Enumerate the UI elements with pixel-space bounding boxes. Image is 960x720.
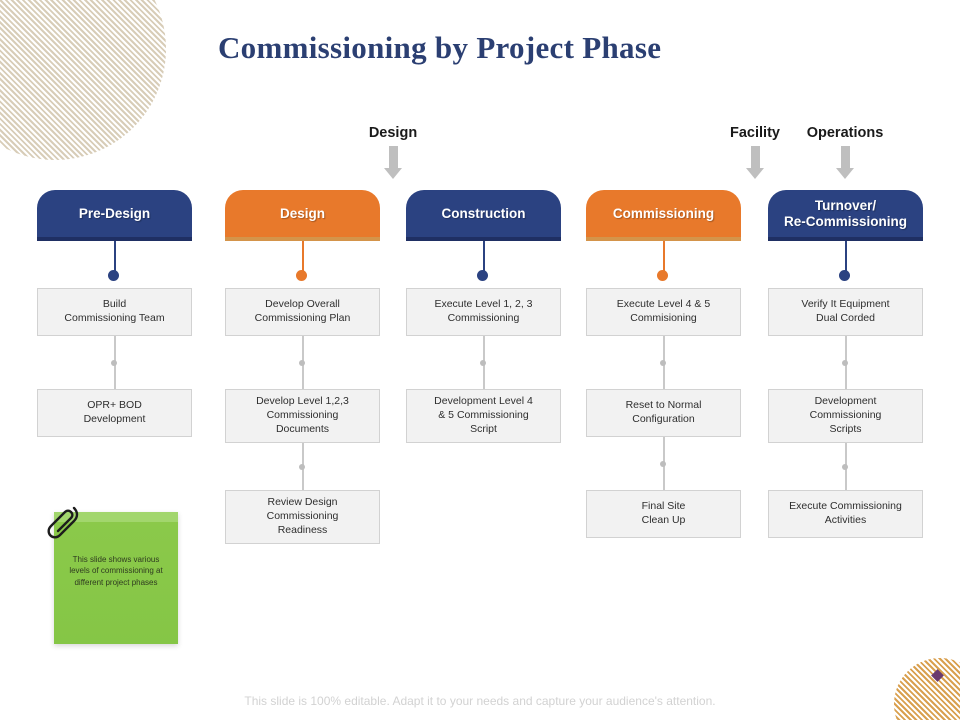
step-box-label: Execute Level 1, 2, 3Commissioning (434, 298, 532, 326)
column-header-line: Pre-Design (79, 206, 150, 222)
sticky-note-line: This slide shows various (60, 554, 172, 565)
step-box[interactable]: Execute CommissioningActivities (768, 490, 923, 538)
phase-arrow-down-icon (384, 146, 402, 179)
step-box-label: BuildCommissioning Team (64, 298, 164, 326)
step-box-line: Dual Corded (801, 312, 889, 326)
step-box-label: Execute Level 4 & 5Commisioning (617, 298, 710, 326)
step-box[interactable]: OPR+ BODDevelopment (37, 389, 192, 437)
decorative-circle-bottom-right (894, 658, 960, 720)
step-box[interactable]: Execute Level 4 & 5Commisioning (586, 288, 741, 336)
step-box-line: Verify It Equipment (801, 298, 889, 312)
column-connector-dot (657, 270, 668, 281)
step-box[interactable]: Develop OverallCommissioning Plan (225, 288, 380, 336)
decorative-circle-top-left (0, 0, 166, 160)
step-box-line: Development (810, 395, 882, 409)
step-box-line: Commissioning Team (64, 312, 164, 326)
phase-arrow-down-icon (746, 146, 764, 179)
step-box[interactable]: Reset to NormalConfiguration (586, 389, 741, 437)
step-box[interactable]: Final SiteClean Up (586, 490, 741, 538)
arrow-shaft (751, 146, 760, 168)
step-connector-dot (842, 464, 848, 470)
column-header-label: Design (280, 206, 325, 222)
step-connector-dot (660, 360, 666, 366)
sticky-note-line: levels of commissioning at (60, 565, 172, 576)
step-box[interactable]: BuildCommissioning Team (37, 288, 192, 336)
step-box-line: Commissioning (267, 510, 339, 524)
column-header-button[interactable]: Construction (406, 190, 561, 237)
step-connector-dot (299, 360, 305, 366)
arrow-shaft (389, 146, 398, 168)
step-box[interactable]: DevelopmentCommissioningScripts (768, 389, 923, 443)
step-box-line: Development (84, 413, 146, 427)
step-box-line: Development Level 4 (434, 395, 533, 409)
column-header-label: Pre-Design (79, 206, 150, 222)
column-header-label: Construction (442, 206, 526, 222)
phase-arrow-down-icon (836, 146, 854, 179)
step-box-label: Develop OverallCommissioning Plan (255, 298, 351, 326)
step-box-line: Commissioning (256, 409, 349, 423)
step-box[interactable]: Verify It EquipmentDual Corded (768, 288, 923, 336)
phase-label-design: Design (369, 125, 417, 141)
step-box-line: Documents (256, 423, 349, 437)
column-connector-line (302, 241, 304, 273)
step-box[interactable]: Develop Level 1,2,3CommissioningDocument… (225, 389, 380, 443)
step-box-line: & 5 Commissioning (434, 409, 533, 423)
column-header-button[interactable]: Pre-Design (37, 190, 192, 237)
step-box-line: Build (64, 298, 164, 312)
step-box-line: Script (434, 423, 533, 437)
step-box-line: Execute Level 1, 2, 3 (434, 298, 532, 312)
column-connector-dot (839, 270, 850, 281)
phase-column-5: Turnover/Re-CommissioningVerify It Equip… (768, 190, 923, 241)
phase-column-4: CommissioningExecute Level 4 & 5Commisio… (586, 190, 741, 241)
step-box-line: Final Site (642, 500, 686, 514)
column-header-line: Re-Commissioning (784, 214, 907, 230)
step-box-line: Clean Up (642, 514, 686, 528)
column-connector-line (663, 241, 665, 273)
step-box-line: Develop Overall (255, 298, 351, 312)
phase-column-3: ConstructionExecute Level 1, 2, 3Commiss… (406, 190, 561, 241)
step-box-line: Scripts (810, 423, 882, 437)
column-header-line: Turnover/ (784, 198, 907, 214)
paperclip-icon (44, 500, 90, 552)
arrow-head (384, 168, 402, 179)
step-box-line: OPR+ BOD (84, 399, 146, 413)
phase-label-facility: Facility (730, 125, 780, 141)
phase-label-operations: Operations (807, 125, 884, 141)
step-box-label: OPR+ BODDevelopment (84, 399, 146, 427)
step-box-line: Commisioning (617, 312, 710, 326)
column-header-label: Commissioning (613, 206, 714, 222)
step-box-line: Develop Level 1,2,3 (256, 395, 349, 409)
step-box-line: Reset to Normal (626, 399, 702, 413)
step-connector-dot (111, 360, 117, 366)
sticky-note-text: This slide shows various levels of commi… (60, 554, 172, 588)
arrow-head (836, 168, 854, 179)
column-connector-dot (477, 270, 488, 281)
step-box-line: Commissioning Plan (255, 312, 351, 326)
column-connector-dot (108, 270, 119, 281)
step-box-label: Reset to NormalConfiguration (626, 399, 702, 427)
column-connector-line (845, 241, 847, 273)
step-box-line: Execute Commissioning (789, 500, 902, 514)
column-connector-line (114, 241, 116, 273)
step-box-label: Develop Level 1,2,3CommissioningDocument… (256, 395, 349, 437)
column-connector-dot (296, 270, 307, 281)
phase-column-1: Pre-DesignBuildCommissioning TeamOPR+ BO… (37, 190, 192, 241)
step-box-line: Configuration (626, 413, 702, 427)
step-box-label: Review DesignCommissioningReadiness (267, 496, 339, 538)
step-connector-dot (660, 461, 666, 467)
step-box[interactable]: Execute Level 1, 2, 3Commissioning (406, 288, 561, 336)
step-connector-dot (842, 360, 848, 366)
column-header-button[interactable]: Commissioning (586, 190, 741, 237)
sticky-note-line: different project phases (60, 577, 172, 588)
column-header-button[interactable]: Turnover/Re-Commissioning (768, 190, 923, 237)
column-header-line: Construction (442, 206, 526, 222)
slide-canvas: Commissioning by Project Phase DesignFac… (0, 0, 960, 720)
step-box-line: Commissioning (810, 409, 882, 423)
step-box-label: Execute CommissioningActivities (789, 500, 902, 528)
column-header-button[interactable]: Design (225, 190, 380, 237)
page-title: Commissioning by Project Phase (218, 30, 661, 66)
step-box-line: Execute Level 4 & 5 (617, 298, 710, 312)
arrow-head (746, 168, 764, 179)
column-connector-line (483, 241, 485, 273)
step-box[interactable]: Review DesignCommissioningReadiness (225, 490, 380, 544)
step-connector-dot (480, 360, 486, 366)
column-header-line: Commissioning (613, 206, 714, 222)
column-header-line: Design (280, 206, 325, 222)
step-box-line: Review Design (267, 496, 339, 510)
step-box-line: Activities (789, 514, 902, 528)
arrow-shaft (841, 146, 850, 168)
step-box-label: DevelopmentCommissioningScripts (810, 395, 882, 437)
step-connector-dot (299, 464, 305, 470)
footer-note: This slide is 100% editable. Adapt it to… (0, 694, 960, 708)
step-box[interactable]: Development Level 4& 5 CommissioningScri… (406, 389, 561, 443)
column-header-label: Turnover/Re-Commissioning (784, 198, 907, 230)
step-box-label: Final SiteClean Up (642, 500, 686, 528)
step-box-line: Readiness (267, 524, 339, 538)
phase-column-2: DesignDevelop OverallCommissioning PlanD… (225, 190, 380, 241)
step-box-label: Verify It EquipmentDual Corded (801, 298, 889, 326)
step-box-line: Commissioning (434, 312, 532, 326)
step-box-label: Development Level 4& 5 CommissioningScri… (434, 395, 533, 437)
